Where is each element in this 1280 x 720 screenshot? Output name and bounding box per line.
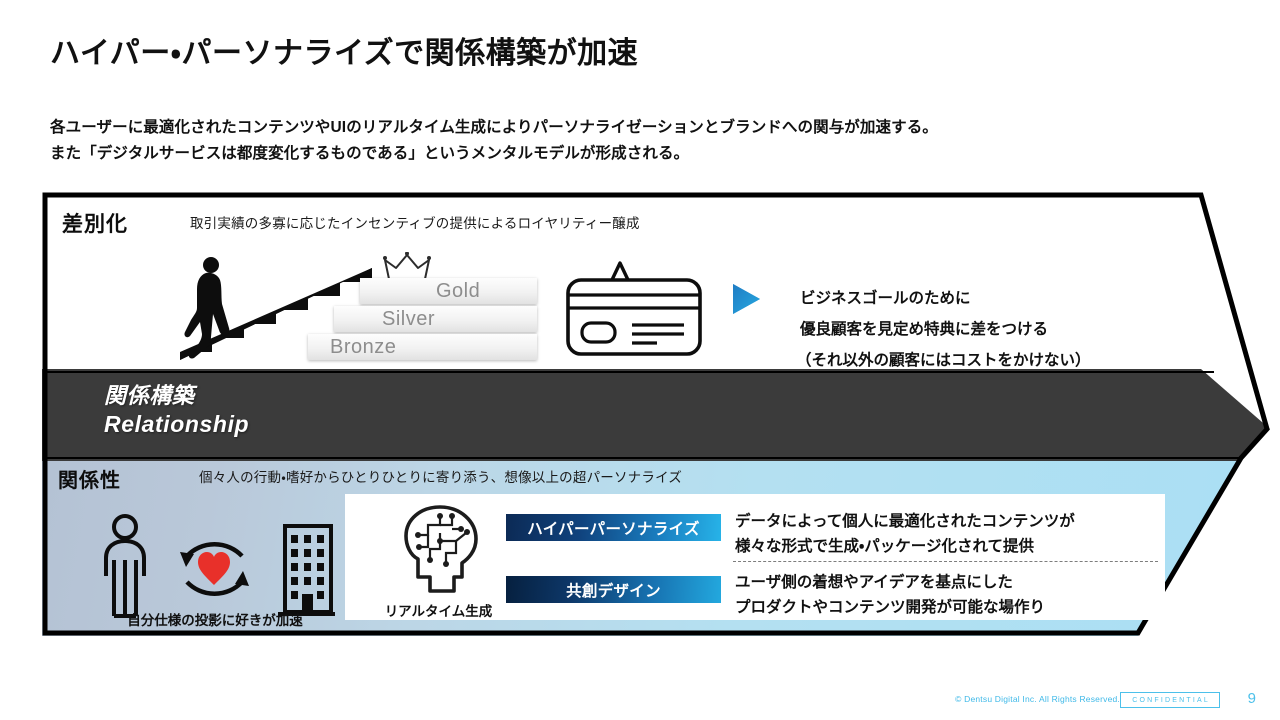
relationship-band-text: 関係構築 Relationship (104, 381, 249, 439)
relationality-trio-caption: 自分仕様の投影に好きが加速 (95, 609, 335, 629)
differentiation-point-2: 優良顧客を見定め特典に差をつける (800, 314, 1091, 345)
footer-copyright: © Dentsu Digital Inc. All Rights Reserve… (955, 694, 1120, 704)
panel-text-row-1: データによって個人に最適化されたコンテンツが 様々な形式で生成・パッケージ化され… (735, 509, 1075, 559)
section-subtitle-relationality: 個々人の行動・嗜好からひとりひとりに寄り添う、想像以上の超パーソナライズ (199, 466, 682, 486)
tier-row-silver: Silver (334, 306, 537, 332)
cycle-heart-icon (180, 544, 249, 594)
ai-head-circuit-icon (400, 503, 492, 599)
lead-line-2: また「デジタルサービスは都度変化するものである」というメンタルモデルが形成される… (50, 141, 938, 167)
tier-row-gold: Gold (360, 278, 537, 304)
tier-label-silver: Silver (382, 308, 435, 331)
section-label-relationality: 関係性 (58, 464, 121, 493)
lead-paragraph: 各ユーザーに最適化されたコンテンツやUIのリアルタイム生成によりパーソナライゼー… (50, 115, 938, 167)
section-subtitle-differentiation: 取引実績の多寡に応じたインセンティブの提供によるロイヤリティー醸成 (190, 212, 640, 232)
panel-text-row-2-line-2: プロダクトやコンテンツ開発が可能な場作り (735, 595, 1045, 620)
relationship-band-en: Relationship (104, 410, 249, 439)
page-number: 9 (1248, 690, 1256, 707)
differentiation-point-3: （それ以外の顧客にはコストをかけない） (800, 345, 1091, 376)
panel-text-row-1-line-2: 様々な形式で生成・パッケージ化されて提供 (735, 534, 1075, 559)
brain-caption: リアルタイム生成 (371, 600, 506, 620)
credit-card-star-icon (562, 247, 712, 359)
panel-divider (733, 561, 1158, 562)
page-title: ハイパー・パーソナライズで関係構築が加速 (50, 28, 638, 72)
chip-co-creation-design: 共創デザイン (506, 576, 721, 603)
tier-label-gold: Gold (436, 280, 480, 303)
section-label-differentiation: 差別化 (62, 208, 128, 238)
office-building-icon (278, 526, 335, 614)
person-outline-icon (106, 516, 144, 616)
differentiation-points: ビジネスゴールのために 優良顧客を見定め特典に差をつける （それ以外の顧客にはコ… (800, 283, 1091, 376)
tier-ladder-graphic: Gold Silver Bronze (176, 252, 546, 364)
lead-line-1: 各ユーザーに最適化されたコンテンツやUIのリアルタイム生成によりパーソナライゼー… (50, 115, 938, 141)
confidential-badge: CONFIDENTIAL (1120, 692, 1220, 708)
panel-text-row-2-line-1: ユーザ側の着想やアイデアを基点にした (735, 570, 1045, 595)
differentiation-point-1: ビジネスゴールのために (800, 283, 1091, 314)
chip-hyper-personalize: ハイパーパーソナライズ (506, 514, 721, 541)
relationality-icon-group (95, 512, 335, 624)
panel-text-row-2: ユーザ側の着想やアイデアを基点にした プロダクトやコンテンツ開発が可能な場作り (735, 570, 1045, 620)
tier-label-bronze: Bronze (330, 336, 396, 359)
play-triangle-icon (730, 282, 762, 316)
relationship-band-jp: 関係構築 (104, 381, 249, 410)
tier-row-bronze: Bronze (308, 334, 537, 360)
panel-text-row-1-line-1: データによって個人に最適化されたコンテンツが (735, 509, 1075, 534)
